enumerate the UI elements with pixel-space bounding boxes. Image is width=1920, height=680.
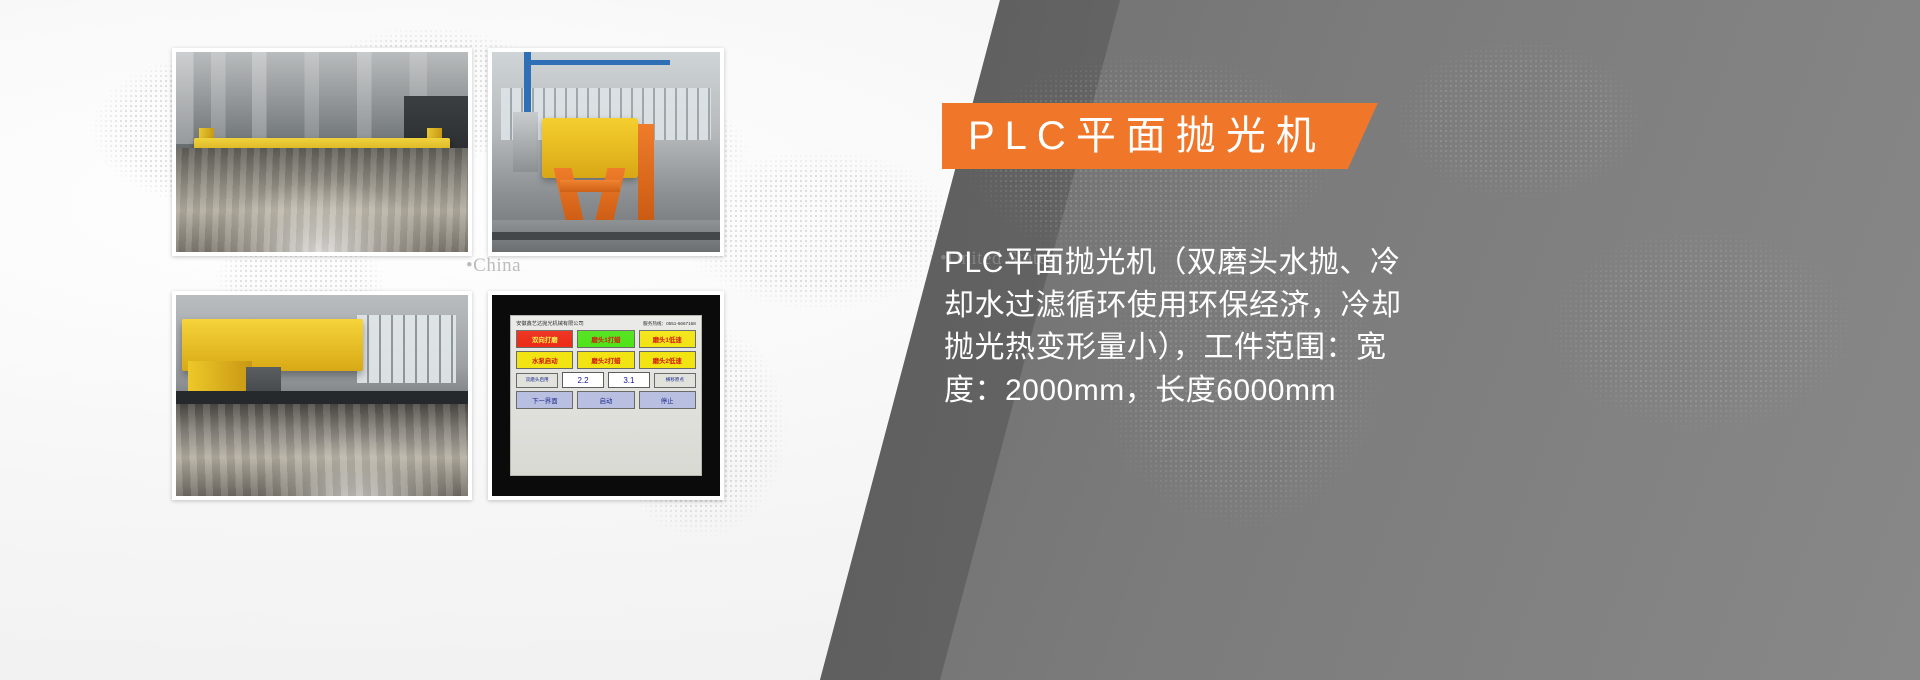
title-banner-shape: PLC平面抛光机 [942, 103, 1378, 169]
hmi-value-field-1[interactable]: 2.2 [562, 372, 604, 388]
photo-polishing-head-closeup [172, 291, 472, 500]
hmi-company-name: 安徽鑫艺达抛光机械有限公司 [516, 320, 583, 327]
hmi-button-row-4: 下一界面 启动 停止 [516, 391, 696, 409]
photo-machine-frame [488, 48, 724, 256]
hmi-button-head1-low-speed[interactable]: 磨头1低速 [639, 330, 696, 348]
photo-hmi-touch-panel: 安徽鑫艺达抛光机械有限公司 服务热线：0551-6667168 双向打磨 磨头1… [488, 291, 724, 500]
product-photo-grid: 安徽鑫艺达抛光机械有限公司 服务热线：0551-6667168 双向打磨 磨头1… [172, 48, 724, 500]
hmi-button-head2-wax[interactable]: 磨头2打蜡 [577, 351, 634, 369]
hmi-button-row-1: 双向打磨 磨头1打蜡 磨头1低速 [516, 330, 696, 348]
hmi-button-water-pump-start[interactable]: 水泵启动 [516, 351, 573, 369]
hmi-button-start[interactable]: 启动 [577, 391, 634, 409]
hmi-label-traverse-origin[interactable]: 横移原点 [654, 373, 696, 388]
hmi-button-head1-wax[interactable]: 磨头1打蜡 [577, 330, 634, 348]
hmi-button-head2-low-speed[interactable]: 磨头2低速 [639, 351, 696, 369]
banner-stage: Canada United States China [0, 0, 1920, 680]
page-title: PLC平面抛光机 [968, 116, 1326, 156]
title-banner: PLC平面抛光机 [942, 103, 1378, 169]
hmi-button-stop[interactable]: 停止 [639, 391, 696, 409]
hmi-header: 安徽鑫艺达抛光机械有限公司 服务热线：0551-6667168 [516, 320, 696, 327]
hmi-label-dual-head-enable[interactable]: 双磨头启用 [516, 373, 558, 388]
hmi-hotline: 服务热线：0551-6667168 [643, 321, 696, 327]
hmi-value-row: 双磨头启用 2.2 3.1 横移原点 [516, 372, 696, 388]
hmi-button-next-screen[interactable]: 下一界面 [516, 391, 573, 409]
hmi-value-field-2[interactable]: 3.1 [608, 372, 650, 388]
hmi-button-bidirectional-grind[interactable]: 双向打磨 [516, 330, 573, 348]
product-description: PLC平面抛光机（双磨头水抛、冷却水过滤循环使用环保经济，冷却抛光热变形量小），… [944, 242, 1430, 412]
hmi-screen: 安徽鑫艺达抛光机械有限公司 服务热线：0551-6667168 双向打磨 磨头1… [510, 315, 702, 476]
hmi-button-row-2: 水泵启动 磨头2打蜡 磨头2低速 [516, 351, 696, 369]
photo-gantry-polishing-line [172, 48, 472, 256]
map-label-canada: Canada [880, 170, 947, 192]
